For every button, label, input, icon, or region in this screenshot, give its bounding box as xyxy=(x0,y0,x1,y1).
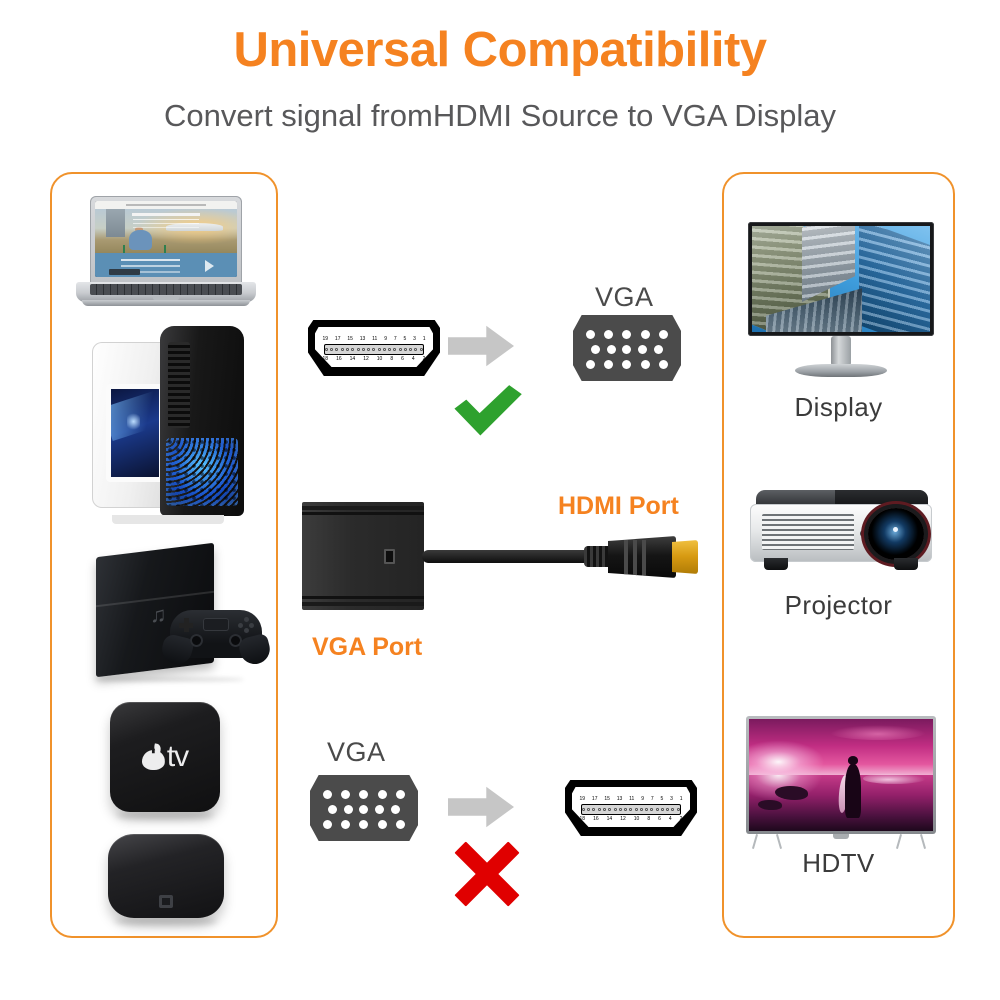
vga-source-label: VGA xyxy=(327,737,386,768)
tower-window xyxy=(106,384,164,482)
mi-box-body xyxy=(108,834,224,918)
laptop-screen-headline xyxy=(132,213,200,216)
monitor-screen xyxy=(752,226,930,332)
output-device-projector: Projector xyxy=(724,470,953,650)
gamepad-dpad-icon xyxy=(179,618,193,632)
hdtv-label: HDTV xyxy=(724,848,953,879)
laptop-foot xyxy=(82,300,250,306)
page-title: Universal Compatibility xyxy=(0,22,1000,78)
mi-box-icon xyxy=(108,834,224,918)
hdmi-pins xyxy=(324,344,424,354)
adapter-gold-contacts xyxy=(672,540,698,574)
monitor-stand-base xyxy=(795,364,887,377)
adapter-vga-socket xyxy=(384,549,395,564)
tv-screen xyxy=(749,719,933,831)
play-icon xyxy=(205,260,214,272)
vga-port-label: VGA Port xyxy=(312,633,422,662)
vga-pin-row-2 xyxy=(591,345,662,354)
check-shape xyxy=(450,384,524,440)
source-devices-panel: ♫ tv xyxy=(50,172,278,938)
tv-wallpaper-rock-1 xyxy=(775,786,808,799)
vga-pin-row-1 xyxy=(586,330,668,339)
playstation-logo-icon: ♫ xyxy=(150,604,170,626)
console-shadow xyxy=(94,677,244,682)
adapter-housing xyxy=(302,502,424,610)
hdmi-pins xyxy=(581,804,681,814)
laptop-screen-dock xyxy=(109,269,140,275)
hdmi-connector-top: 191715131197531 18161412108642 xyxy=(308,320,440,376)
infographic-root: Universal Compatibility Convert signal f… xyxy=(0,0,1000,1000)
tv-center-support xyxy=(833,834,849,839)
tv-foot-right xyxy=(896,834,930,849)
mi-logo-icon xyxy=(159,895,173,908)
adapter-strain-relief xyxy=(584,546,612,567)
vga-pin-row-1 xyxy=(323,790,405,799)
tv-wallpaper-sky xyxy=(749,719,933,777)
tower-front-panel xyxy=(160,326,244,516)
hdmi-connector-bottom: 191715131197531 18161412108642 xyxy=(565,780,697,836)
game-console-icon: ♫ xyxy=(66,546,266,686)
hdmi-pin-numbers-bottom: 18161412108642 xyxy=(323,357,426,362)
projector-vent-grille xyxy=(762,514,854,550)
projector-lens xyxy=(868,508,924,560)
tv-icon xyxy=(746,716,936,850)
laptop-photo-stadium xyxy=(166,223,223,231)
laptop-photo-person-head xyxy=(135,227,143,231)
tv-wallpaper-surfer xyxy=(845,764,862,818)
projector-foot-left xyxy=(764,558,788,570)
tower-base xyxy=(112,515,224,524)
monitor-wallpaper-building-3 xyxy=(859,226,930,332)
adapter-hdmi-plug xyxy=(608,536,676,578)
projector-icon xyxy=(750,490,932,578)
laptop-keyboard xyxy=(90,284,242,295)
output-device-hdtv: HDTV xyxy=(724,698,953,908)
vga-pin-row-3 xyxy=(586,360,668,369)
tv-wallpaper-clouds xyxy=(830,725,926,740)
arrow-right-icon xyxy=(448,785,514,829)
tv-wallpaper-wave xyxy=(863,773,926,784)
arrow-right-icon xyxy=(448,324,514,368)
pc-tower-icon xyxy=(92,326,244,516)
vga-pin-row-2 xyxy=(328,805,399,814)
page-subtitle: Convert signal fromHDMI Source to VGA Di… xyxy=(0,98,1000,134)
flow-arrow-supported xyxy=(448,324,514,368)
hdmi-pin-numbers-top: 191715131197531 xyxy=(580,797,683,802)
vga-pin-row-3 xyxy=(323,820,405,829)
apple-logo-icon xyxy=(142,744,165,770)
monitor-stand-neck xyxy=(831,336,851,366)
gamepad-face-buttons xyxy=(238,617,254,633)
mi-box-shadow xyxy=(114,917,218,926)
tower-vent xyxy=(168,342,190,428)
vga-target-label: VGA xyxy=(595,282,654,313)
tv-bezel xyxy=(746,716,936,834)
projector-label: Projector xyxy=(724,590,953,621)
apple-tv-shadow xyxy=(116,811,214,820)
green-check-icon xyxy=(450,384,524,440)
laptop-lid xyxy=(90,196,242,284)
laptop-icon xyxy=(76,196,256,308)
gamepad-right-stick xyxy=(229,634,242,647)
gamepad-touchpad xyxy=(203,618,229,631)
display-label: Display xyxy=(724,392,953,423)
projector-foot-right xyxy=(894,558,918,570)
gamepad-left-stick xyxy=(190,634,203,647)
adapter-cable xyxy=(422,550,598,563)
apple-tv-icon: tv xyxy=(110,702,220,812)
hdmi-pin-numbers-bottom: 18161412108642 xyxy=(580,817,683,822)
laptop-screen-navbar xyxy=(95,201,237,209)
apple-tv-wordmark: tv xyxy=(167,740,188,774)
laptop-screen-photo xyxy=(95,209,237,257)
projector-sensor xyxy=(860,530,867,537)
hdmi-pin-numbers-top: 191715131197531 xyxy=(323,337,426,342)
vga-connector-top xyxy=(573,315,681,381)
monitor-bezel xyxy=(748,222,934,336)
flow-arrow-unsupported xyxy=(448,785,514,829)
tower-hex-mesh xyxy=(166,438,238,506)
monitor-icon xyxy=(748,222,934,382)
tv-wallpaper-rock-2 xyxy=(758,800,782,810)
laptop-screen xyxy=(95,201,237,277)
apple-tv-branding: tv xyxy=(110,702,220,812)
output-device-display: Display xyxy=(724,188,953,438)
tv-foot-left xyxy=(752,834,786,849)
output-devices-panel: Display Projector xyxy=(722,172,955,938)
vga-connector-bottom xyxy=(310,775,418,841)
tower-inner-glow xyxy=(127,412,139,431)
hdmi-port-label: HDMI Port xyxy=(558,492,679,521)
adapter-top-stripe xyxy=(302,506,424,510)
connector-flow: VGA 191715131197531 18161412108642 xyxy=(280,172,722,938)
red-cross-icon xyxy=(457,844,517,904)
adapter-bottom-stripe xyxy=(302,602,424,606)
gamepad-icon xyxy=(170,610,262,658)
